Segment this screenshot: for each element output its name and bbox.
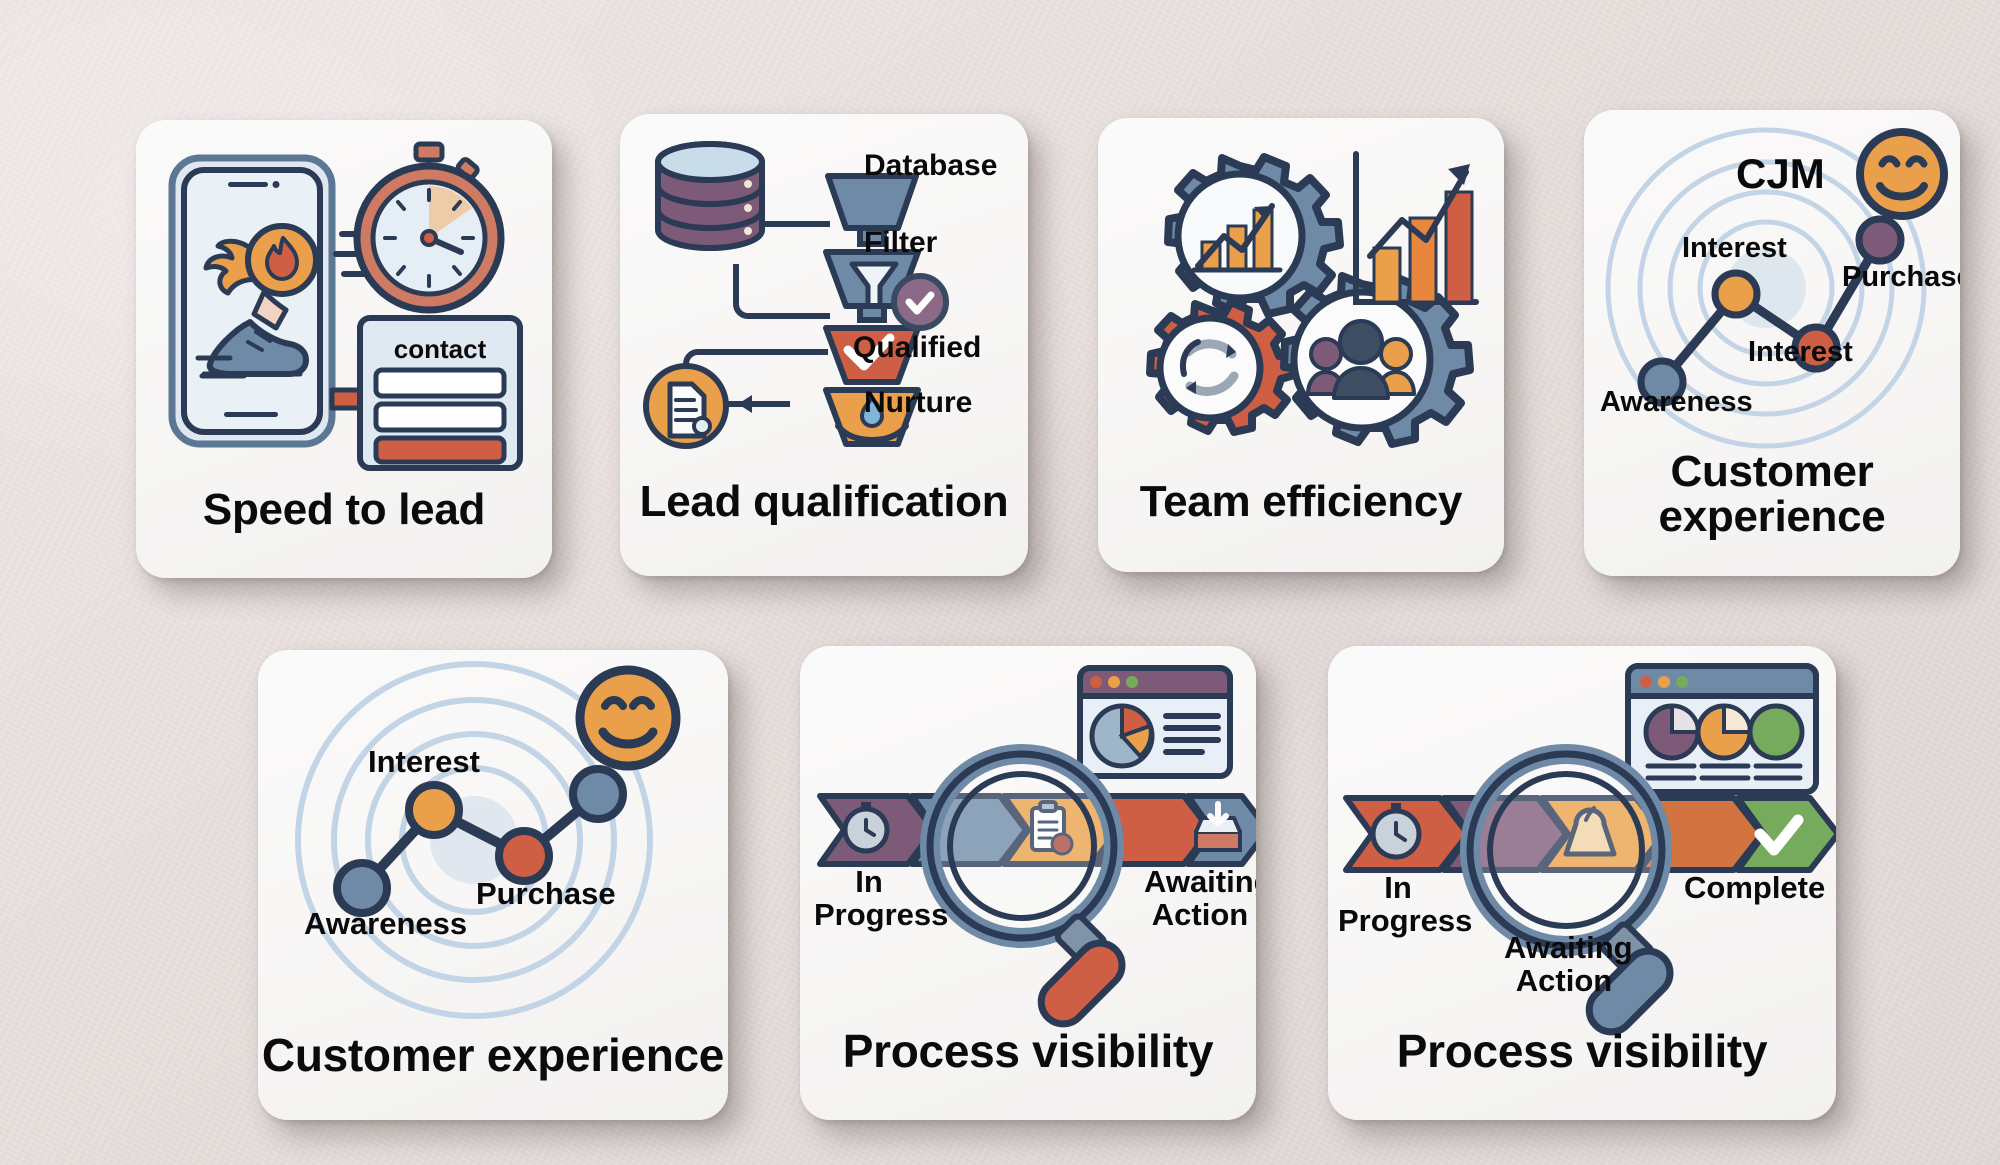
label-awaiting-action: Awaiting Action — [1504, 932, 1624, 997]
journey-radar-icon — [258, 650, 728, 1020]
card-process-visibility-b[interactable]: In Progress Awaiting Action Complete Pro… — [1328, 646, 1836, 1120]
gears-chart-people-icon — [1098, 118, 1504, 468]
card-title-process-visibility-a: Process visibility — [800, 1028, 1256, 1075]
magnifier-icon — [1470, 754, 1679, 1041]
journey-point-interest-1 — [1715, 273, 1757, 315]
label-interest-top: Interest — [1682, 233, 1787, 263]
label-purchase: Purchase — [476, 878, 616, 911]
dashboard-window-icon — [1628, 666, 1816, 792]
card-process-visibility-a[interactable]: In Progress Awaiting Action Process visi… — [800, 646, 1256, 1120]
card-speed-to-lead[interactable]: contact Speed to lead — [136, 120, 552, 578]
process-visibility-a-illustration — [800, 646, 1256, 1026]
journey-point-purchase — [1859, 219, 1901, 261]
card-customer-experience[interactable]: Interest Purchase Awareness Customer exp… — [258, 650, 728, 1120]
smiley-face-icon — [580, 670, 676, 766]
label-in-progress: In Progress — [1338, 872, 1458, 937]
phone-runner-stopwatch-icon: contact — [136, 120, 552, 480]
card-title-customer-experience: Customer experience — [258, 1032, 728, 1079]
label-awareness: Awareness — [304, 908, 467, 941]
label-awareness: Awareness — [1600, 387, 1753, 417]
card-title-speed-to-lead: Speed to lead — [136, 488, 552, 533]
label-nurture: Nurture — [864, 387, 972, 419]
journey-point-purchase — [499, 831, 549, 881]
card-customer-experience-cjm[interactable]: CJM Interest Purchase Interest Awareness… — [1584, 110, 1960, 576]
label-database: Database — [864, 150, 997, 182]
customer-experience-illustration — [258, 650, 728, 1020]
card-team-efficiency[interactable]: Team efficiency — [1098, 118, 1504, 572]
card-title-customer-experience-cjm: Customer experience — [1584, 450, 1960, 540]
card-title-process-visibility-b: Process visibility — [1328, 1028, 1836, 1075]
label-filter: Filter — [864, 227, 937, 259]
label-awaiting-action: Awaiting Action — [1144, 866, 1256, 931]
team-efficiency-illustration — [1098, 118, 1504, 468]
label-interest-bottom: Interest — [1748, 337, 1853, 367]
speed-to-lead-illustration: contact — [136, 120, 552, 480]
card-title-team-efficiency: Team efficiency — [1098, 480, 1504, 525]
label-interest: Interest — [368, 746, 480, 779]
journey-point-end — [573, 769, 623, 819]
dashboard-window-icon — [1080, 668, 1230, 776]
contact-form-label: contact — [394, 334, 487, 364]
card-title-lead-qualification: Lead qualification — [620, 480, 1028, 525]
magnifier-icon — [930, 754, 1131, 1033]
label-purchase: Purchase — [1842, 262, 1960, 292]
label-cjm: CJM — [1736, 152, 1825, 196]
label-in-progress: In Progress — [814, 866, 924, 931]
chevron-pipeline-magnifier-icon — [800, 646, 1256, 1026]
card-lead-qualification[interactable]: Database Filter Qualified Nurture Lead q… — [620, 114, 1028, 576]
journey-point-interest — [409, 785, 459, 835]
label-qualified: Qualified — [853, 332, 981, 364]
label-complete: Complete — [1684, 872, 1820, 905]
smiley-face-icon — [1860, 132, 1944, 216]
